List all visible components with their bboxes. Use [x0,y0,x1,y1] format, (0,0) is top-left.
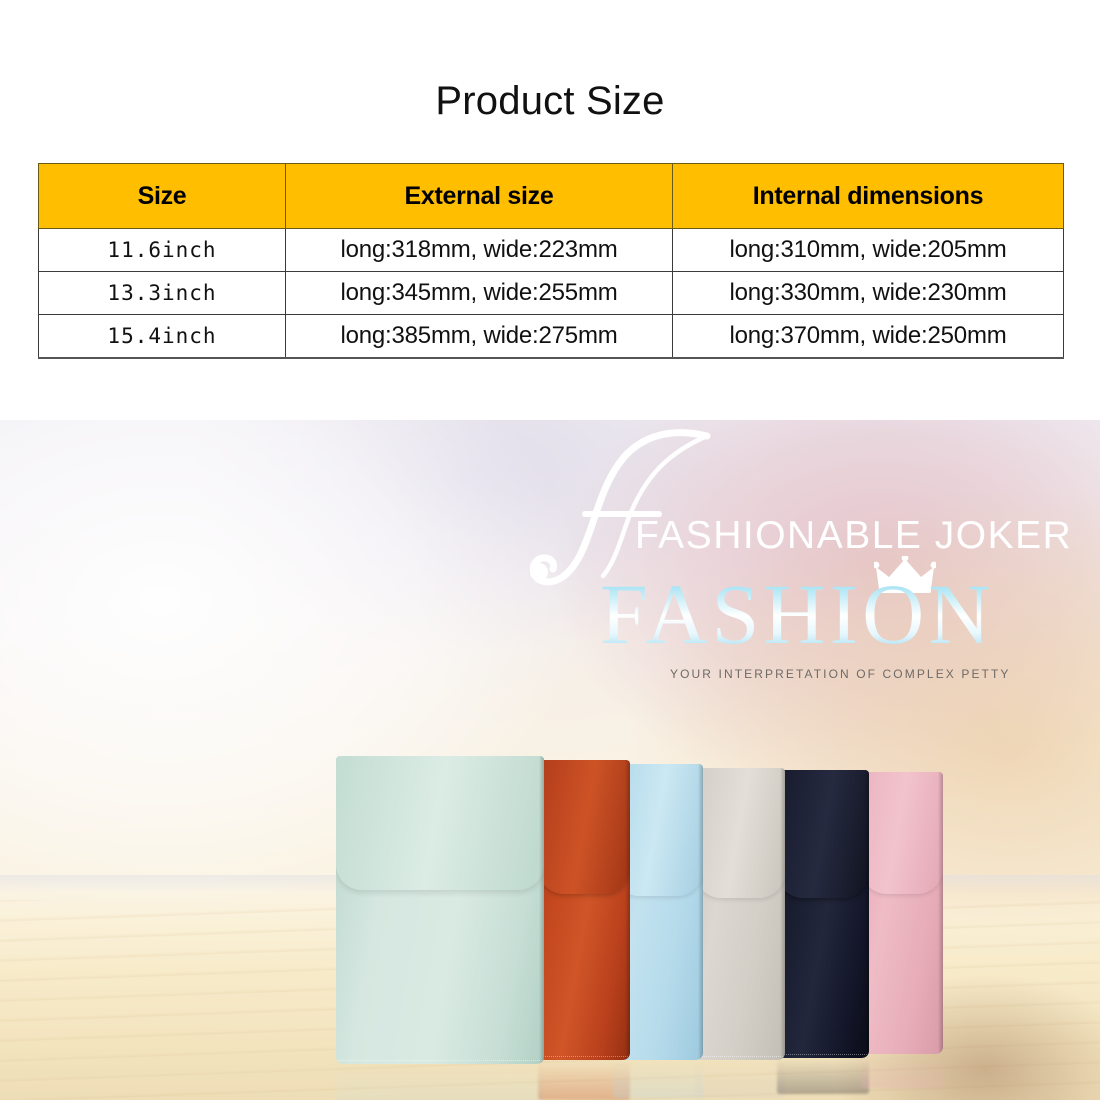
page-title: Product Size [0,79,1100,124]
table-row: 11.6inch long:318mm, wide:223mm long:310… [39,229,1064,272]
column-header-external-size: External size [286,164,673,229]
sleeve-reflection [613,1060,703,1098]
mint-green-sleeve[interactable] [336,756,544,1064]
cell-size: 15.4inch [39,315,286,359]
sleeve-reflection [695,1060,785,1098]
cell-internal-dimensions: long:310mm, wide:205mm [673,229,1064,272]
navy-black-sleeve[interactable] [777,770,869,1058]
cell-external-size: long:345mm, wide:255mm [286,272,673,315]
product-size-table: Size External size Internal dimensions 1… [38,163,1064,359]
sleeve-reflection [777,1058,869,1094]
product-sleeve-group [0,420,1100,1100]
product-size-section: Product Size Size External size Internal… [0,0,1100,420]
rust-orange-sleeve[interactable] [538,760,630,1060]
sleeve-reflection [336,1064,544,1100]
pink-sleeve[interactable] [861,772,943,1054]
table-row: 13.3inch long:345mm, wide:255mm long:330… [39,272,1064,315]
cell-size: 11.6inch [39,229,286,272]
beige-grey-sleeve[interactable] [695,768,785,1060]
table-header-row: Size External size Internal dimensions [39,164,1064,229]
cell-external-size: long:385mm, wide:275mm [286,315,673,359]
sleeve-reflection [861,1054,943,1088]
column-header-internal-dimensions: Internal dimensions [673,164,1064,229]
column-header-size: Size [39,164,286,229]
table-row: 15.4inch long:385mm, wide:275mm long:370… [39,315,1064,359]
cell-external-size: long:318mm, wide:223mm [286,229,673,272]
cell-internal-dimensions: long:330mm, wide:230mm [673,272,1064,315]
product-hero-image: FASHIONABLE JOKER FASHION YOUR INTERPRET… [0,420,1100,1100]
cell-internal-dimensions: long:370mm, wide:250mm [673,315,1064,359]
cell-size: 13.3inch [39,272,286,315]
